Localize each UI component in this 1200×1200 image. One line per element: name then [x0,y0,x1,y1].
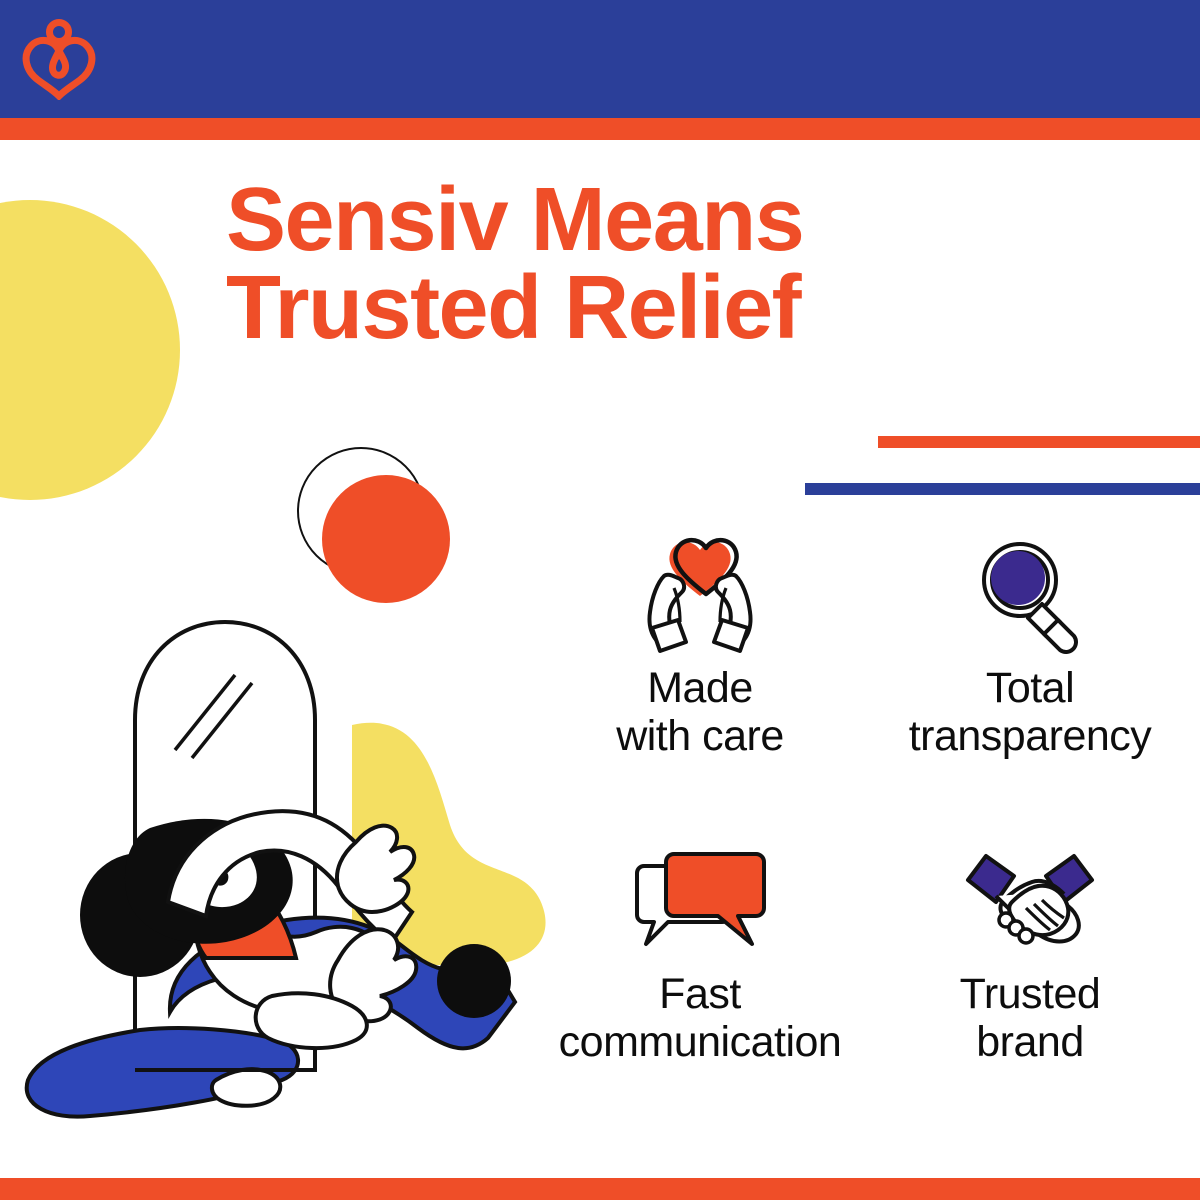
yoga-illustration [20,560,560,1130]
feature-label: Made with care [616,664,784,760]
top-header-bar [0,0,1200,118]
feature-item-trusted-brand[interactable]: Trusted brand [870,834,1190,1128]
page-title-line-2: Trusted Relief [226,264,1026,352]
feature-grid: Made with care Total transparency Fast c… [540,528,1190,1128]
feature-item-total-transparency[interactable]: Total transparency [870,528,1190,822]
footer-accent-stripe [0,1178,1200,1200]
feature-item-fast-communication[interactable]: Fast communication [540,834,860,1128]
decor-black-dot [437,944,511,1018]
feature-label: Fast communication [559,970,842,1066]
decor-rule-blue [805,483,1200,495]
decor-yellow-circle [0,200,180,500]
hands-holding-heart-icon [630,528,770,658]
feature-label: Trusted brand [960,970,1101,1066]
feature-item-made-with-care[interactable]: Made with care [540,528,860,822]
decor-rule-orange [878,436,1200,448]
feature-label: Total transparency [909,664,1152,760]
handshake-icon [960,834,1100,964]
heart-person-logo-icon[interactable] [16,18,102,100]
magnifying-glass-icon [960,528,1100,658]
page-title: Sensiv Means Trusted Relief [226,176,1026,352]
header-accent-stripe [0,118,1200,140]
speech-bubbles-icon [630,834,770,964]
page-title-line-1: Sensiv Means [226,176,1026,264]
